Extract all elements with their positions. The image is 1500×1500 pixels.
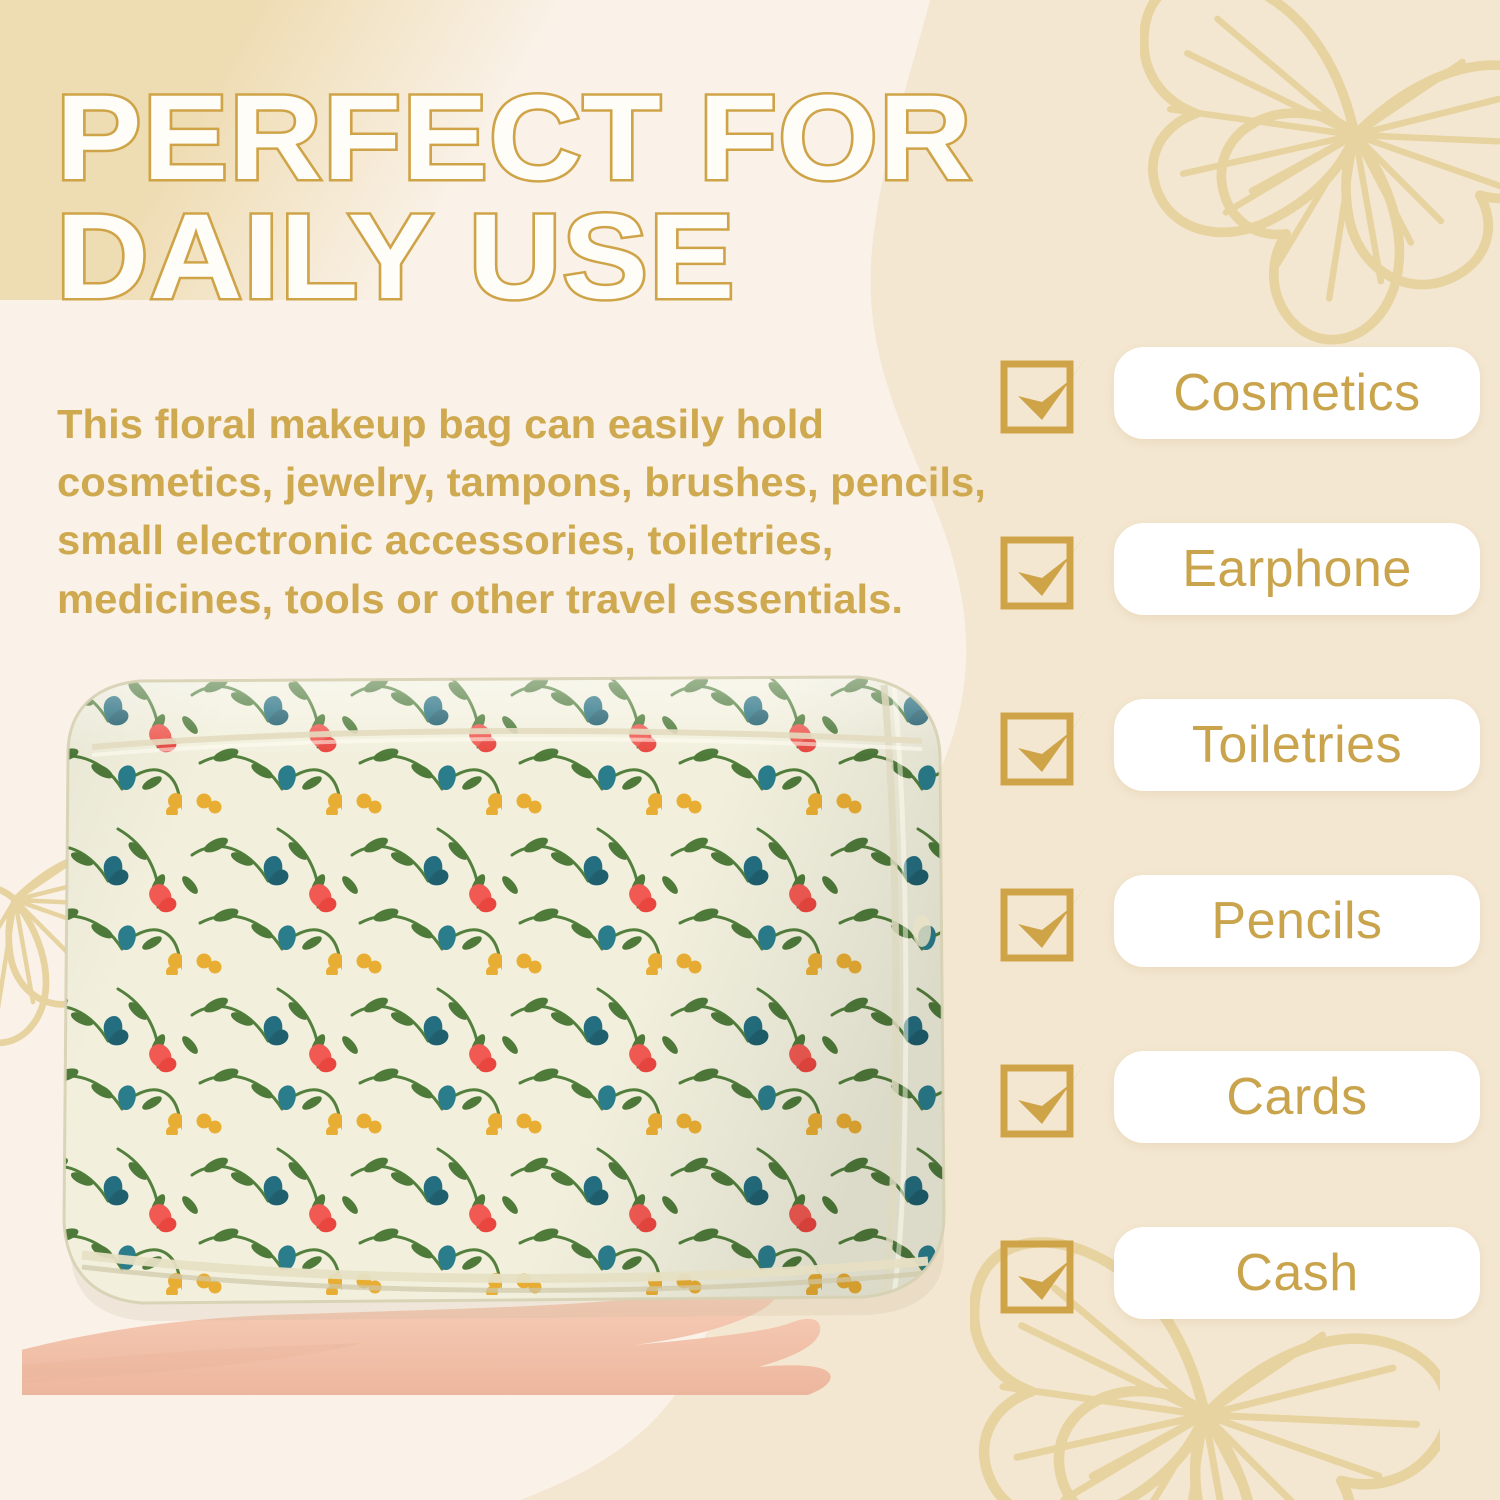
checklist-label-pill[interactable]: Earphone bbox=[1114, 523, 1480, 615]
checkbox-checked-icon[interactable] bbox=[1000, 1230, 1092, 1316]
checklist-label-pill[interactable]: Toiletries bbox=[1114, 699, 1480, 791]
makeup-bag bbox=[22, 655, 982, 1355]
checklist-item-label: Cards bbox=[1226, 1067, 1367, 1127]
checkbox-checked-icon[interactable] bbox=[1000, 702, 1092, 788]
checklist-item-label: Cash bbox=[1235, 1243, 1358, 1303]
checkbox-checked-icon[interactable] bbox=[1000, 526, 1092, 612]
checklist-label-pill[interactable]: Cards bbox=[1114, 1051, 1480, 1143]
checklist-item-label: Toiletries bbox=[1192, 715, 1402, 775]
checklist-label-pill[interactable]: Cash bbox=[1114, 1227, 1480, 1319]
checklist-item-label: Pencils bbox=[1211, 891, 1382, 951]
checkbox-checked-icon[interactable] bbox=[1000, 350, 1092, 436]
checkbox-checked-icon[interactable] bbox=[1000, 878, 1092, 964]
checklist-label-pill[interactable]: Pencils bbox=[1114, 875, 1480, 967]
checklist-item-label: Cosmetics bbox=[1173, 363, 1420, 423]
checklist-item-label: Earphone bbox=[1182, 539, 1412, 599]
checklist-label-pill[interactable]: Cosmetics bbox=[1114, 347, 1480, 439]
description-text: This floral makeup bag can easily hold c… bbox=[57, 395, 1016, 628]
page-title: PERFECT FOR DAILY USE bbox=[56, 78, 1074, 315]
checklist-item-cash[interactable]: Cash bbox=[1000, 1225, 1480, 1320]
feature-checklist: Cosmetics Earphone Toiletr bbox=[1000, 345, 1480, 1320]
checklist-item-earphone[interactable]: Earphone bbox=[1000, 521, 1480, 616]
checklist-item-pencils[interactable]: Pencils bbox=[1000, 873, 1480, 968]
product-photo-makeup-bag bbox=[22, 655, 982, 1395]
checklist-item-cosmetics[interactable]: Cosmetics bbox=[1000, 345, 1480, 440]
checklist-item-cards[interactable]: Cards bbox=[1000, 1049, 1480, 1144]
checklist-item-toiletries[interactable]: Toiletries bbox=[1000, 697, 1480, 792]
checkbox-checked-icon[interactable] bbox=[1000, 1054, 1092, 1140]
promo-image: PERFECT FOR DAILY USE This floral makeup… bbox=[0, 0, 1500, 1500]
